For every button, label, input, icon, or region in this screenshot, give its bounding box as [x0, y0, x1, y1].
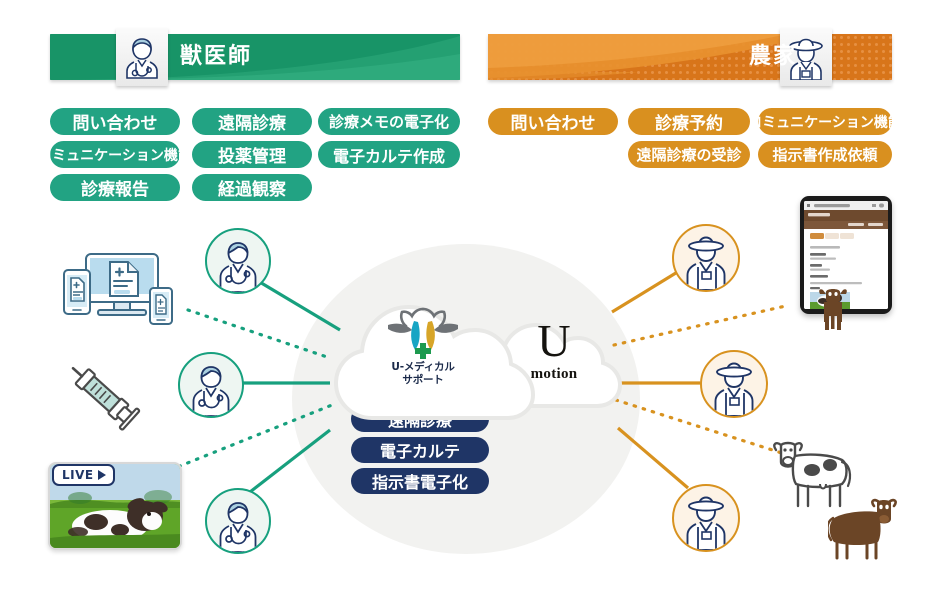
- farmer-tag-1[interactable]: 問い合わせ: [488, 108, 618, 135]
- u-medical-logo: U-メディカル サポート: [370, 305, 476, 387]
- vet-tag-6[interactable]: 電子カルテ作成: [318, 141, 460, 168]
- farmer-tag-2[interactable]: 診療予約: [628, 108, 750, 135]
- vet-tag-1[interactable]: 問い合わせ: [50, 108, 180, 135]
- vet-avatar-1: [205, 228, 271, 294]
- farmer-avatar-1: [672, 224, 740, 292]
- center-tag-2[interactable]: 電子カルテ: [351, 437, 489, 463]
- vet-tag-5[interactable]: 投薬管理: [192, 141, 312, 168]
- banner-label-farmer: 農家: [749, 34, 797, 80]
- vet-tag-4[interactable]: コミュニケーション機能: [50, 141, 180, 168]
- syringe-illustration: [60, 358, 150, 436]
- brown-cow-small: [812, 286, 868, 337]
- vet-avatar-badge: [116, 28, 168, 86]
- doctor-avatar-icon: [122, 34, 162, 80]
- vet-tag-3[interactable]: 診療メモの電子化: [318, 108, 460, 135]
- header-banner-farmer: 農家: [488, 34, 892, 80]
- u-motion-logo: U motion: [508, 318, 600, 383]
- live-badge-label: LIVE: [62, 468, 94, 482]
- header-banner-vet: 獣医師: [50, 34, 460, 80]
- vet-tag-8[interactable]: 経過観察: [192, 174, 312, 201]
- devices-illustration: [58, 250, 183, 340]
- banner-bar-vet: [50, 34, 460, 80]
- u-motion-word: motion: [508, 366, 600, 383]
- banner-label-vet: 獣医師: [180, 34, 252, 80]
- live-badge: LIVE: [52, 464, 115, 486]
- play-triangle-icon: [98, 470, 106, 480]
- vet-tag-7[interactable]: 診療報告: [50, 174, 180, 201]
- farmer-tag-3[interactable]: コミュニケーション機能: [758, 108, 892, 135]
- syringe-icon: [60, 358, 150, 436]
- farmer-avatar-3: [672, 484, 740, 552]
- devices-medical-record-icon: [58, 250, 183, 340]
- u-medical-caption-line1: U-メディカル: [370, 361, 476, 374]
- farmer-tag-4[interactable]: 遠隔診療の受診: [628, 141, 750, 168]
- diagram-canvas: 獣医師: [0, 0, 940, 605]
- brown-cow-icon: [812, 286, 868, 332]
- vet-tag-2[interactable]: 遠隔診療: [192, 108, 312, 135]
- brown-cow-large: [828, 498, 904, 565]
- vet-avatar-2: [178, 352, 244, 418]
- u-medical-caption-line2: サポート: [370, 374, 476, 387]
- center-tag-3[interactable]: 指示書電子化: [351, 468, 489, 494]
- farmer-avatar-2: [700, 350, 768, 418]
- cow-head-logo-icon: [384, 305, 462, 361]
- u-motion-letter: U: [508, 318, 600, 364]
- brown-cow-icon: [828, 498, 904, 560]
- vet-avatar-3: [205, 488, 271, 554]
- farmer-tag-5[interactable]: 指示書作成依頼: [758, 141, 892, 168]
